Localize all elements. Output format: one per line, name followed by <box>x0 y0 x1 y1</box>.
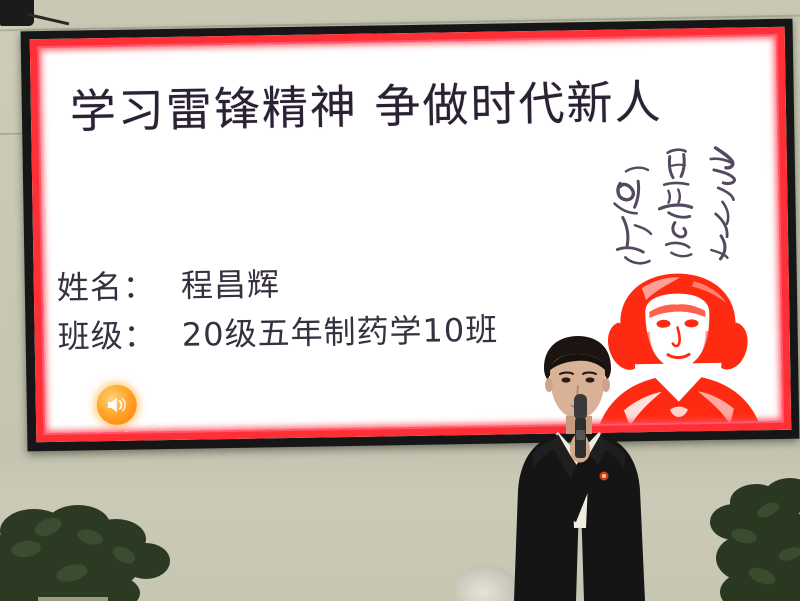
slide-title: 学习雷锋精神 争做时代新人 <box>69 66 663 142</box>
screen-mount-bracket <box>0 0 34 26</box>
class-label: 班级： <box>57 311 157 362</box>
mao-calligraphy-inscription <box>597 131 749 268</box>
name-label: 姓名： <box>56 262 156 313</box>
speaker-icon[interactable] <box>96 385 137 426</box>
slide-info-block: 姓名： 程昌辉 班级： 20级五年制药学10班 <box>56 257 498 362</box>
info-row-class: 班级： 20级五年制药学10班 <box>57 306 498 362</box>
class-value: 20级五年制药学10班 <box>181 306 498 360</box>
presentation-scene: 学习雷锋精神 争做时代新人 姓名： 程昌辉 班级： 20级五年制药学10班 <box>0 0 800 601</box>
potted-plant-right <box>686 466 800 601</box>
name-value: 程昌辉 <box>181 260 281 311</box>
student-presenter <box>498 330 688 601</box>
info-row-name: 姓名： 程昌辉 <box>56 257 497 313</box>
potted-plant-left <box>0 477 196 601</box>
